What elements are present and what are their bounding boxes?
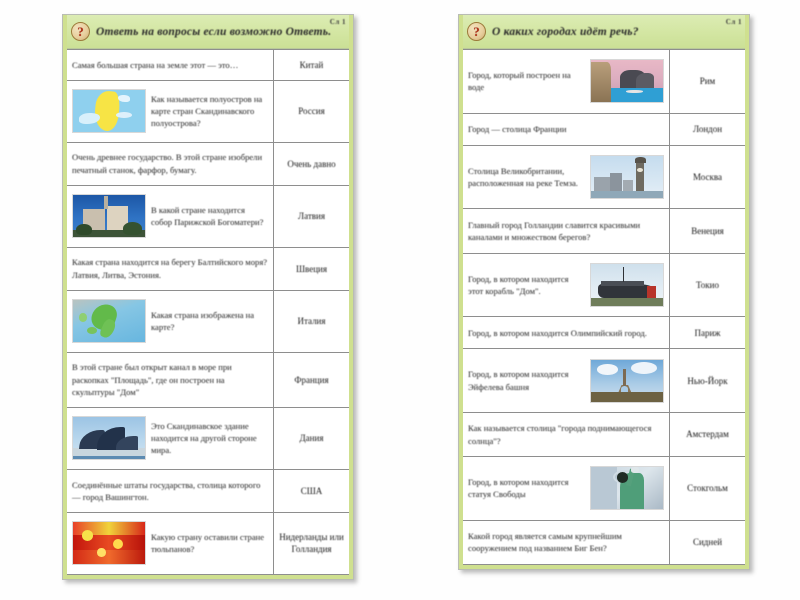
question-cell: Город, в котором находится Эйфелева башн… xyxy=(463,349,669,412)
table-row[interactable]: Главный город Голландии славится красивы… xyxy=(463,209,745,253)
answer-cell: Лондон xyxy=(669,114,745,145)
answer-text: Россия xyxy=(298,105,324,117)
answer-text: Франция xyxy=(294,374,328,386)
slide-header-left: ? Ответь на вопросы если возможно Ответь… xyxy=(63,15,353,49)
table-row[interactable]: Город, в котором находится Эйфелева башн… xyxy=(463,349,745,413)
question-cell: Соединённые штаты государства, столица к… xyxy=(67,470,273,512)
question-text: Какой город является самым крупнейшим со… xyxy=(468,530,664,554)
answer-cell: Стокгольм xyxy=(669,457,745,520)
question-cell: Город, в котором находится Олимпийский г… xyxy=(463,317,669,348)
question-text: Столица Великобритании, расположенная на… xyxy=(468,165,585,189)
answer-text: Венеция xyxy=(691,225,724,237)
answer-text: Италия xyxy=(297,315,325,327)
answer-cell: США xyxy=(273,470,349,512)
answer-text: Дания xyxy=(300,432,324,444)
question-text: Какую страну оставили стране тюльпанов? xyxy=(151,531,268,555)
question-cell: Какая страна изображена на карте? xyxy=(67,291,273,352)
question-cell: Главный город Голландии славится красивы… xyxy=(463,209,669,252)
question-text: Это Скандинавское здание находится на др… xyxy=(151,420,268,457)
table-row[interactable]: Столица Великобритании, расположенная на… xyxy=(463,146,745,210)
slide-panel-left[interactable]: ? Ответь на вопросы если возможно Ответь… xyxy=(62,14,354,580)
answer-text: Амстердам xyxy=(686,428,729,440)
answer-cell: Нидерланды или Голландия xyxy=(273,513,349,574)
question-text: В этой стране был открыт канал в море пр… xyxy=(72,361,268,398)
table-row[interactable]: Какая страна изображена на карте? Италия xyxy=(67,291,349,353)
question-cell: Город, в котором находится статуя Свобод… xyxy=(463,457,669,520)
question-text: Какая страна находится на берегу Балтийс… xyxy=(72,256,268,280)
table-row[interactable]: Какая страна находится на берегу Балтийс… xyxy=(67,248,349,291)
question-table-right: Город, который построен на воде Рим Горо… xyxy=(462,49,746,565)
table-row[interactable]: Город — столица Франции Лондон xyxy=(463,114,745,146)
question-cell: Как называется полуостров на карте стран… xyxy=(67,81,273,142)
answer-text: Нидерланды или Голландия xyxy=(277,531,346,555)
answer-cell: Дания xyxy=(273,408,349,469)
question-cell: Самая большая страна на земле этот — это… xyxy=(67,50,273,80)
answer-text: Сидней xyxy=(693,536,722,548)
answer-cell: Латвия xyxy=(273,186,349,247)
tulip-field-image xyxy=(72,521,146,565)
tokyo-ship-image xyxy=(590,263,664,307)
answer-cell: Швеция xyxy=(273,248,349,290)
answer-text: Нью-Йорк xyxy=(687,375,727,387)
answer-text: Токио xyxy=(696,279,719,291)
answer-cell: Франция xyxy=(273,353,349,407)
table-row[interactable]: Соединённые штаты государства, столица к… xyxy=(67,470,349,513)
answer-cell: Амстердам xyxy=(669,413,745,456)
sydney-opera-house-image xyxy=(72,416,146,460)
table-row[interactable]: Город, в котором находится Олимпийский г… xyxy=(463,317,745,349)
table-row[interactable]: Город, в котором находится статуя Свобод… xyxy=(463,457,745,521)
answer-text: Швеция xyxy=(296,263,327,275)
answer-cell: Венеция xyxy=(669,209,745,252)
statue-of-liberty-image xyxy=(590,466,664,510)
question-text: Какая страна изображена на карте? xyxy=(151,309,268,333)
question-table-left: Самая большая страна на земле этот — это… xyxy=(66,49,350,575)
table-row[interactable]: В этой стране был открыт канал в море пр… xyxy=(67,353,349,408)
slide-page-label-left: Сл 1 xyxy=(330,18,346,26)
scandinavia-map-image xyxy=(72,89,146,133)
question-cell: Какой город является самым крупнейшим со… xyxy=(463,521,669,564)
table-row[interactable]: Очень древнее государство. В этой стране… xyxy=(67,143,349,186)
table-row[interactable]: В какой стране находится собор Парижской… xyxy=(67,186,349,248)
slide-page-label-right: Сл 1 xyxy=(726,18,742,26)
table-row[interactable]: Как называется столица "города поднимающ… xyxy=(463,413,745,457)
notre-dame-cathedral-image xyxy=(72,194,146,238)
question-text: Город, в котором находится этот корабль … xyxy=(468,273,585,297)
answer-text: Китай xyxy=(300,59,324,71)
slide-title-left: Ответь на вопросы если возможно Ответь. xyxy=(96,26,345,38)
answer-cell: Россия xyxy=(273,81,349,142)
answer-text: США xyxy=(301,485,323,497)
answer-cell: Париж xyxy=(669,317,745,348)
answer-text: Лондон xyxy=(693,123,722,135)
question-cell: Город — столица Франции xyxy=(463,114,669,145)
answer-cell: Очень давно xyxy=(273,143,349,185)
question-cell: Очень древнее государство. В этой стране… xyxy=(67,143,273,185)
question-cell: В этой стране был открыт канал в море пр… xyxy=(67,353,273,407)
answer-cell: Москва xyxy=(669,146,745,209)
question-text: Самая большая страна на земле этот — это… xyxy=(72,59,268,71)
italy-map-image xyxy=(72,299,146,343)
question-text: Город, в котором находится Эйфелева башн… xyxy=(468,368,585,392)
answer-cell: Рим xyxy=(669,50,745,113)
answer-text: Очень давно xyxy=(287,158,335,170)
question-cell: Какую страну оставили стране тюльпанов? xyxy=(67,513,273,574)
question-cell: Город, который построен на воде xyxy=(463,50,669,113)
slide-panel-right[interactable]: ? О каких городах идёт речь? Сл 1 Город,… xyxy=(458,14,750,570)
answer-cell: Китай xyxy=(273,50,349,80)
question-text: Главный город Голландии славится красивы… xyxy=(468,219,664,243)
question-cell: Какая страна находится на берегу Балтийс… xyxy=(67,248,273,290)
table-row[interactable]: Самая большая страна на земле этот — это… xyxy=(67,49,349,81)
answer-text: Рим xyxy=(700,75,716,87)
question-text: Город, в котором находится статуя Свобод… xyxy=(468,476,585,500)
answer-cell: Сидней xyxy=(669,521,745,564)
answer-text: Стокгольм xyxy=(687,482,728,494)
table-row[interactable]: Город, который построен на воде Рим xyxy=(463,49,745,114)
question-text: Соединённые штаты государства, столица к… xyxy=(72,479,268,503)
question-cell: Это Скандинавское здание находится на др… xyxy=(67,408,273,469)
answer-text: Москва xyxy=(693,171,722,183)
question-mark-icon: ? xyxy=(71,22,90,41)
question-cell: Город, в котором находится этот корабль … xyxy=(463,254,669,317)
answer-cell: Токио xyxy=(669,254,745,317)
answer-text: Париж xyxy=(694,327,720,339)
question-text: Город, в котором находится Олимпийский г… xyxy=(468,327,664,339)
slide-title-right: О каких городах идёт речь? xyxy=(492,26,741,38)
slides-canvas: ? Ответь на вопросы если возможно Ответь… xyxy=(0,0,800,600)
question-cell: В какой стране находится собор Парижской… xyxy=(67,186,273,247)
rome-venice-image xyxy=(590,59,664,103)
question-cell: Как называется столица "города поднимающ… xyxy=(463,413,669,456)
question-cell: Столица Великобритании, расположенная на… xyxy=(463,146,669,209)
answer-cell: Нью-Йорк xyxy=(669,349,745,412)
table-row[interactable]: Какую страну оставили стране тюльпанов? … xyxy=(67,513,349,575)
slide-header-right: ? О каких городах идёт речь? Сл 1 xyxy=(459,15,749,49)
table-row[interactable]: Город, в котором находится этот корабль … xyxy=(463,254,745,318)
question-text: Город, который построен на воде xyxy=(468,69,585,93)
question-text: Как называется полуостров на карте стран… xyxy=(151,93,268,130)
table-row[interactable]: Какой город является самым крупнейшим со… xyxy=(463,521,745,565)
question-text: В какой стране находится собор Парижской… xyxy=(151,204,268,228)
answer-text: Латвия xyxy=(298,210,325,222)
london-big-ben-image xyxy=(590,155,664,199)
answer-cell: Италия xyxy=(273,291,349,352)
question-text: Как называется столица "города поднимающ… xyxy=(468,422,664,446)
paris-eiffel-tower-image xyxy=(590,359,664,403)
table-row[interactable]: Как называется полуостров на карте стран… xyxy=(67,81,349,143)
question-text: Очень древнее государство. В этой стране… xyxy=(72,151,268,175)
question-mark-icon: ? xyxy=(467,22,486,41)
question-text: Город — столица Франции xyxy=(468,123,664,135)
table-row[interactable]: Это Скандинавское здание находится на др… xyxy=(67,408,349,470)
